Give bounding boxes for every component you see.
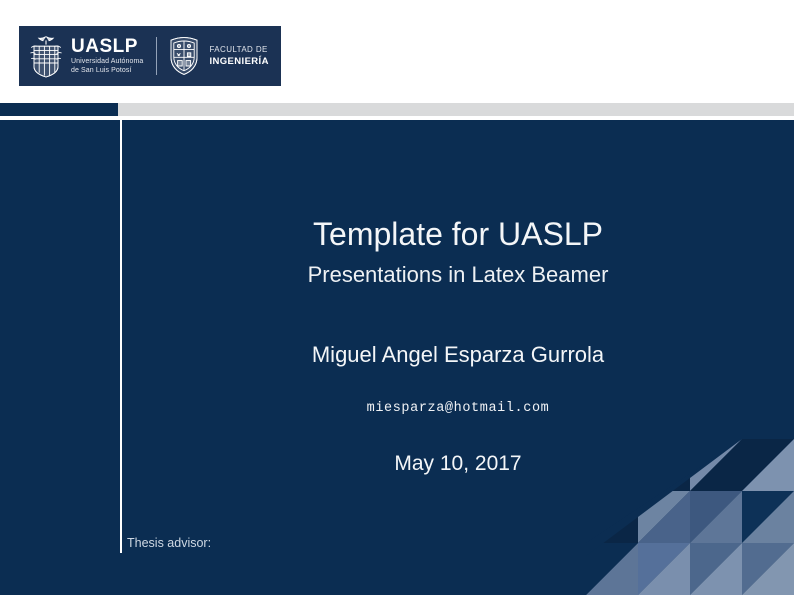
- university-abbrev: UASLP: [71, 36, 138, 57]
- university-name-line1: Universidad Autónoma: [71, 58, 143, 67]
- header-accent-bar-gray: [118, 103, 794, 116]
- university-logo-group: UASLP Universidad Autónoma de San Luis P…: [19, 34, 143, 78]
- logo-divider: [156, 37, 157, 75]
- university-name-line2: de San Luis Potosí: [71, 67, 143, 76]
- faculty-logo-group: FACULTAD DE INGENIERÍA: [168, 36, 268, 76]
- slide-title: Template for UASLP: [122, 216, 794, 252]
- vertical-rule: [120, 120, 122, 553]
- engineering-faculty-seal-icon: [168, 36, 200, 76]
- faculty-wordmark: FACULTAD DE INGENIERÍA: [209, 45, 268, 68]
- uaslp-logo-block: UASLP Universidad Autónoma de San Luis P…: [19, 26, 281, 86]
- author-email: miesparza@hotmail.com: [122, 401, 794, 417]
- university-wordmark: UASLP Universidad Autónoma de San Luis P…: [71, 37, 143, 76]
- faculty-label-line1: FACULTAD DE: [209, 45, 268, 55]
- thesis-advisor-label: Thesis advisor:: [127, 535, 211, 551]
- presentation-title-slide: UASLP Universidad Autónoma de San Luis P…: [0, 0, 794, 595]
- slide-header: UASLP Universidad Autónoma de San Luis P…: [0, 0, 794, 103]
- slide-subtitle: Presentations in Latex Beamer: [122, 262, 794, 288]
- author-name: Miguel Angel Esparza Gurrola: [122, 342, 794, 368]
- faculty-label-line2: INGENIERÍA: [209, 56, 268, 68]
- uaslp-eagle-crest-icon: [29, 34, 63, 78]
- slide-body: Template for UASLP Presentations in Late…: [0, 120, 794, 595]
- header-accent-bar-navy: [0, 103, 118, 116]
- presentation-date: May 10, 2017: [122, 451, 794, 476]
